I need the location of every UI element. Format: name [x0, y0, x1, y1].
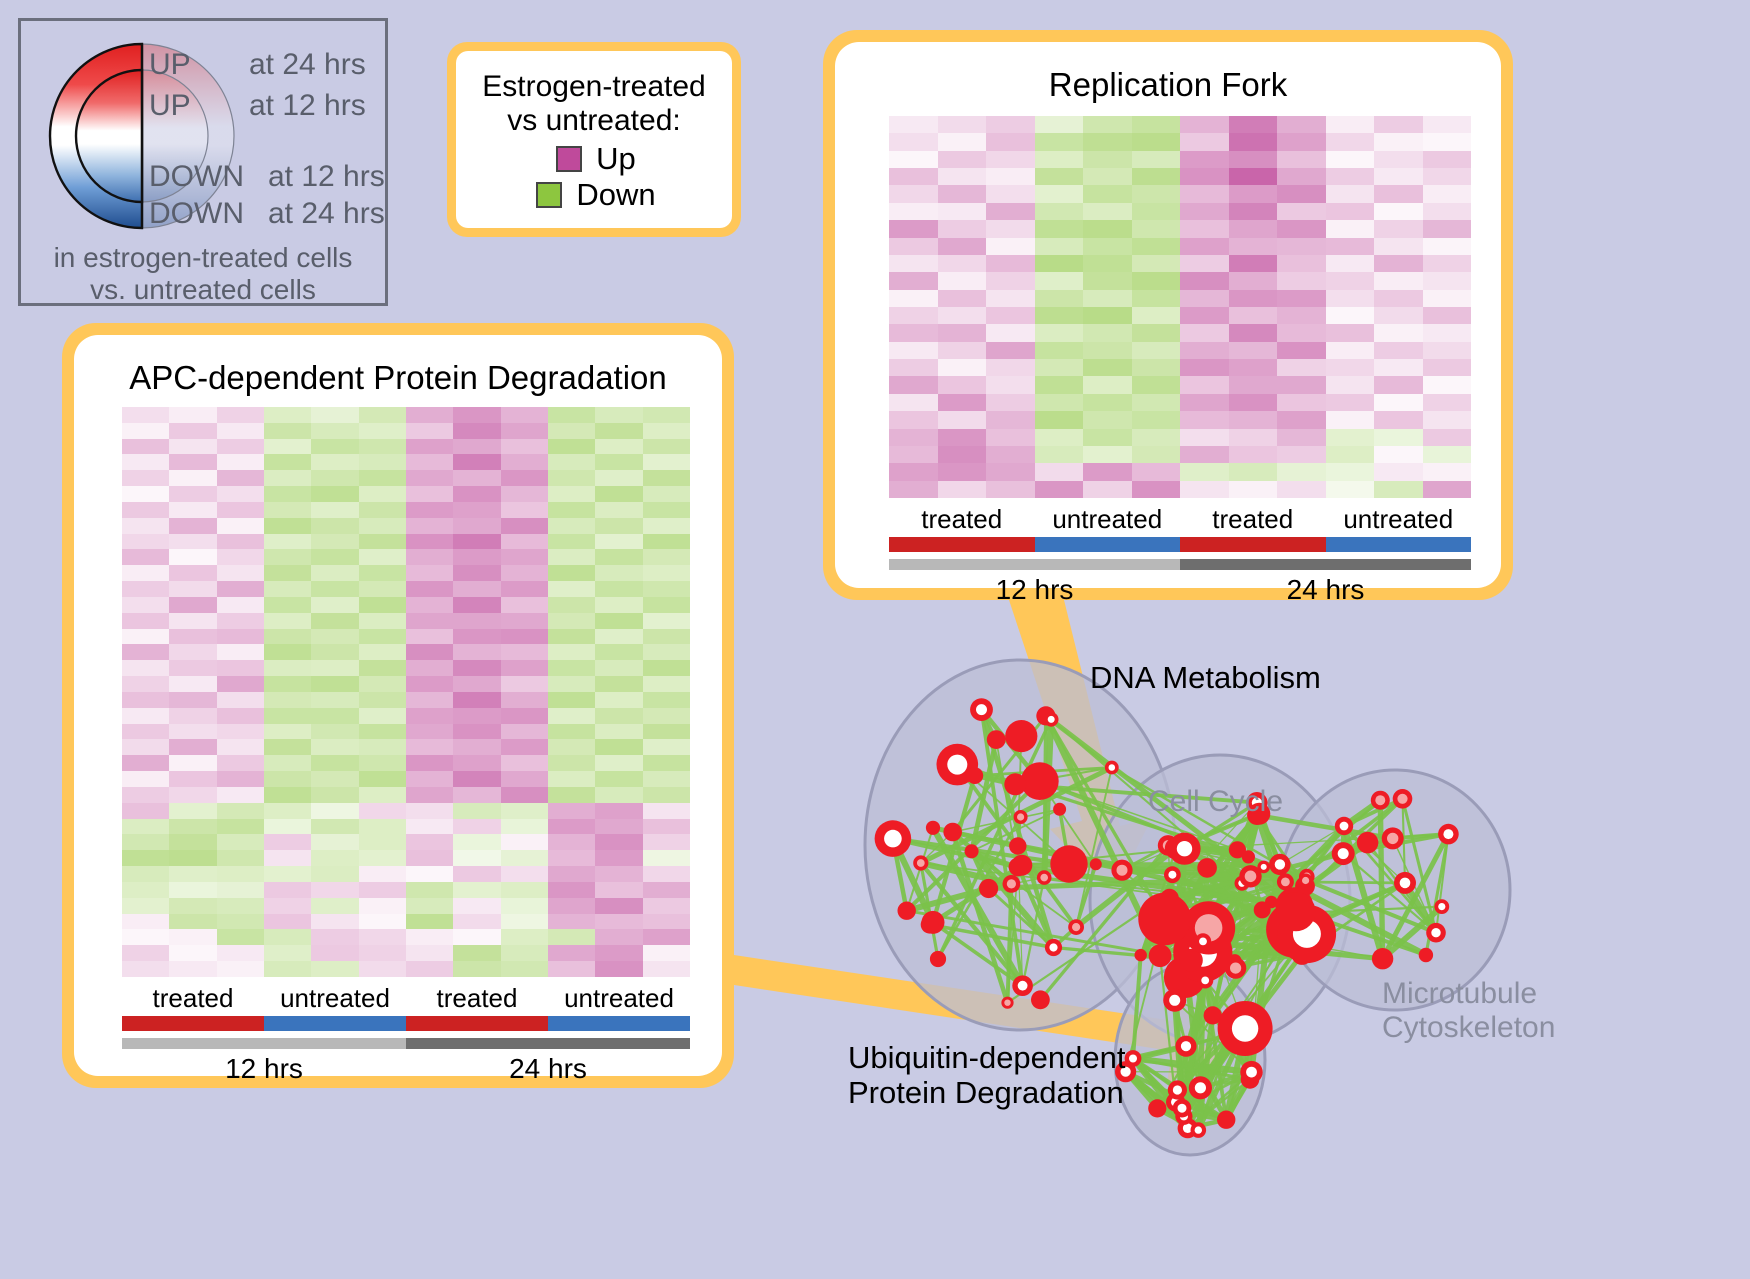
- network-node-core: [884, 830, 902, 848]
- network-node: [921, 916, 939, 934]
- network-node-core: [1230, 963, 1241, 974]
- network-node-core: [1245, 871, 1257, 883]
- cluster-label-microtubule-cytoskeleton: Microtubule Cytoskeleton: [1382, 977, 1555, 1045]
- network-node-core: [1338, 848, 1349, 859]
- network-node: [1138, 893, 1191, 946]
- network-node: [1371, 791, 1390, 810]
- network-node: [1168, 1080, 1187, 1099]
- network-node: [1004, 773, 1026, 795]
- network-node: [1175, 1036, 1196, 1057]
- network-node: [1426, 923, 1446, 943]
- network-node: [1393, 789, 1413, 809]
- network-node: [1197, 858, 1217, 878]
- network-node: [1163, 989, 1186, 1012]
- network-node: [1135, 949, 1147, 961]
- network-node: [1105, 761, 1119, 775]
- network-node-core: [1181, 1041, 1191, 1051]
- network-node: [1239, 865, 1261, 887]
- network-node: [1276, 892, 1315, 931]
- network-node: [1254, 901, 1271, 918]
- network-node-core: [1117, 865, 1128, 876]
- network-node: [1021, 762, 1059, 800]
- network-node: [966, 767, 983, 784]
- network-node: [1037, 870, 1052, 885]
- network-node-core: [1246, 1067, 1257, 1078]
- cluster-label-dna-metabolism: DNA Metabolism: [1090, 660, 1321, 695]
- network-svg: [790, 620, 1750, 1279]
- network-diagram: DNA Metabolism Cell Cycle Microtubule Cy…: [790, 620, 1750, 1279]
- network-node-core: [1201, 977, 1209, 985]
- network-node: [1195, 933, 1211, 949]
- network-node: [1045, 939, 1062, 956]
- network-node: [1382, 827, 1404, 849]
- network-node: [987, 730, 1006, 749]
- network-node-core: [1340, 822, 1349, 831]
- network-node-core: [1375, 795, 1385, 805]
- network-node: [1111, 860, 1132, 881]
- network-node: [1438, 824, 1459, 845]
- network-node: [1173, 1099, 1192, 1118]
- network-node-core: [1018, 981, 1028, 991]
- network-node-core: [1004, 1000, 1010, 1006]
- network-node-core: [1261, 864, 1267, 870]
- network-node-core: [1048, 716, 1055, 723]
- network-node-core: [1443, 829, 1453, 839]
- network-node: [1050, 845, 1087, 882]
- network-node: [1005, 720, 1037, 752]
- network-node: [1419, 948, 1433, 962]
- network-node: [1149, 944, 1172, 967]
- network-node: [1217, 1111, 1235, 1129]
- network-node: [979, 879, 998, 898]
- network-node: [1011, 855, 1032, 876]
- network-node: [1001, 997, 1013, 1009]
- cluster-label-cell-cycle: Cell Cycle: [1148, 785, 1283, 819]
- network-node-core: [1397, 794, 1407, 804]
- network-node: [1372, 948, 1393, 969]
- network-node: [1394, 872, 1416, 894]
- network-node: [913, 855, 928, 870]
- network-node-core: [1168, 871, 1176, 879]
- network-node: [898, 902, 916, 920]
- network-node-core: [1072, 923, 1080, 931]
- network-node-core: [917, 859, 925, 867]
- network-node: [1218, 1001, 1273, 1056]
- network-node: [1053, 803, 1066, 816]
- network-node-core: [1275, 859, 1285, 869]
- cluster-label-ubiquitin-degradation: Ubiquitin-dependent Protein Degradation: [848, 1040, 1126, 1111]
- network-node-core: [1232, 1015, 1258, 1041]
- network-node: [943, 823, 962, 842]
- network-node: [1434, 899, 1449, 914]
- network-node-core: [1400, 878, 1411, 889]
- network-node: [875, 820, 912, 857]
- network-node: [1012, 975, 1033, 996]
- network-node-core: [1049, 943, 1057, 951]
- network-node: [1068, 919, 1084, 935]
- network-node: [1168, 833, 1200, 865]
- network-node: [1189, 1076, 1212, 1099]
- network-node-core: [1302, 877, 1309, 884]
- network-node: [1009, 837, 1026, 854]
- network-node-core: [1040, 874, 1048, 882]
- network-node: [1003, 875, 1021, 893]
- network-node: [965, 844, 979, 858]
- network-node: [1240, 1061, 1262, 1083]
- network-node: [1357, 832, 1379, 854]
- network-node-core: [1178, 1104, 1187, 1113]
- network-node: [1031, 990, 1050, 1009]
- network-node: [1191, 1122, 1207, 1138]
- network-node-core: [1177, 841, 1192, 856]
- network-node: [1164, 866, 1181, 883]
- network-node: [930, 951, 946, 967]
- network-node-core: [1431, 928, 1440, 937]
- network-node-core: [1109, 764, 1116, 771]
- network-node-core: [1195, 1082, 1206, 1093]
- network-node-core: [1169, 995, 1180, 1006]
- network-node-core: [1438, 903, 1445, 910]
- network-node-core: [1007, 879, 1016, 888]
- network-node: [1014, 810, 1028, 824]
- network-node-core: [1281, 878, 1290, 887]
- network-node-core: [976, 704, 987, 715]
- network-node: [1148, 1099, 1166, 1117]
- network-node-core: [1129, 1055, 1137, 1063]
- network-node-core: [1199, 938, 1207, 946]
- network-node-core: [1173, 1085, 1182, 1094]
- network-node-core: [947, 755, 967, 775]
- network-node-core: [1195, 1126, 1202, 1133]
- network-node: [1269, 854, 1290, 875]
- network-node: [1335, 817, 1353, 835]
- network-node: [1299, 874, 1313, 888]
- network-node: [1332, 842, 1355, 865]
- network-node: [970, 698, 993, 721]
- network-node: [1090, 858, 1102, 870]
- network-node: [1229, 841, 1246, 858]
- network-node-core: [1017, 813, 1024, 820]
- network-node: [1197, 972, 1213, 988]
- network-node: [926, 821, 940, 835]
- figure-root: UP at 24 hrs UP at 12 hrs DOWN at 12 hrs…: [0, 0, 1750, 1279]
- network-node-core: [1387, 833, 1398, 844]
- network-node: [1044, 712, 1059, 727]
